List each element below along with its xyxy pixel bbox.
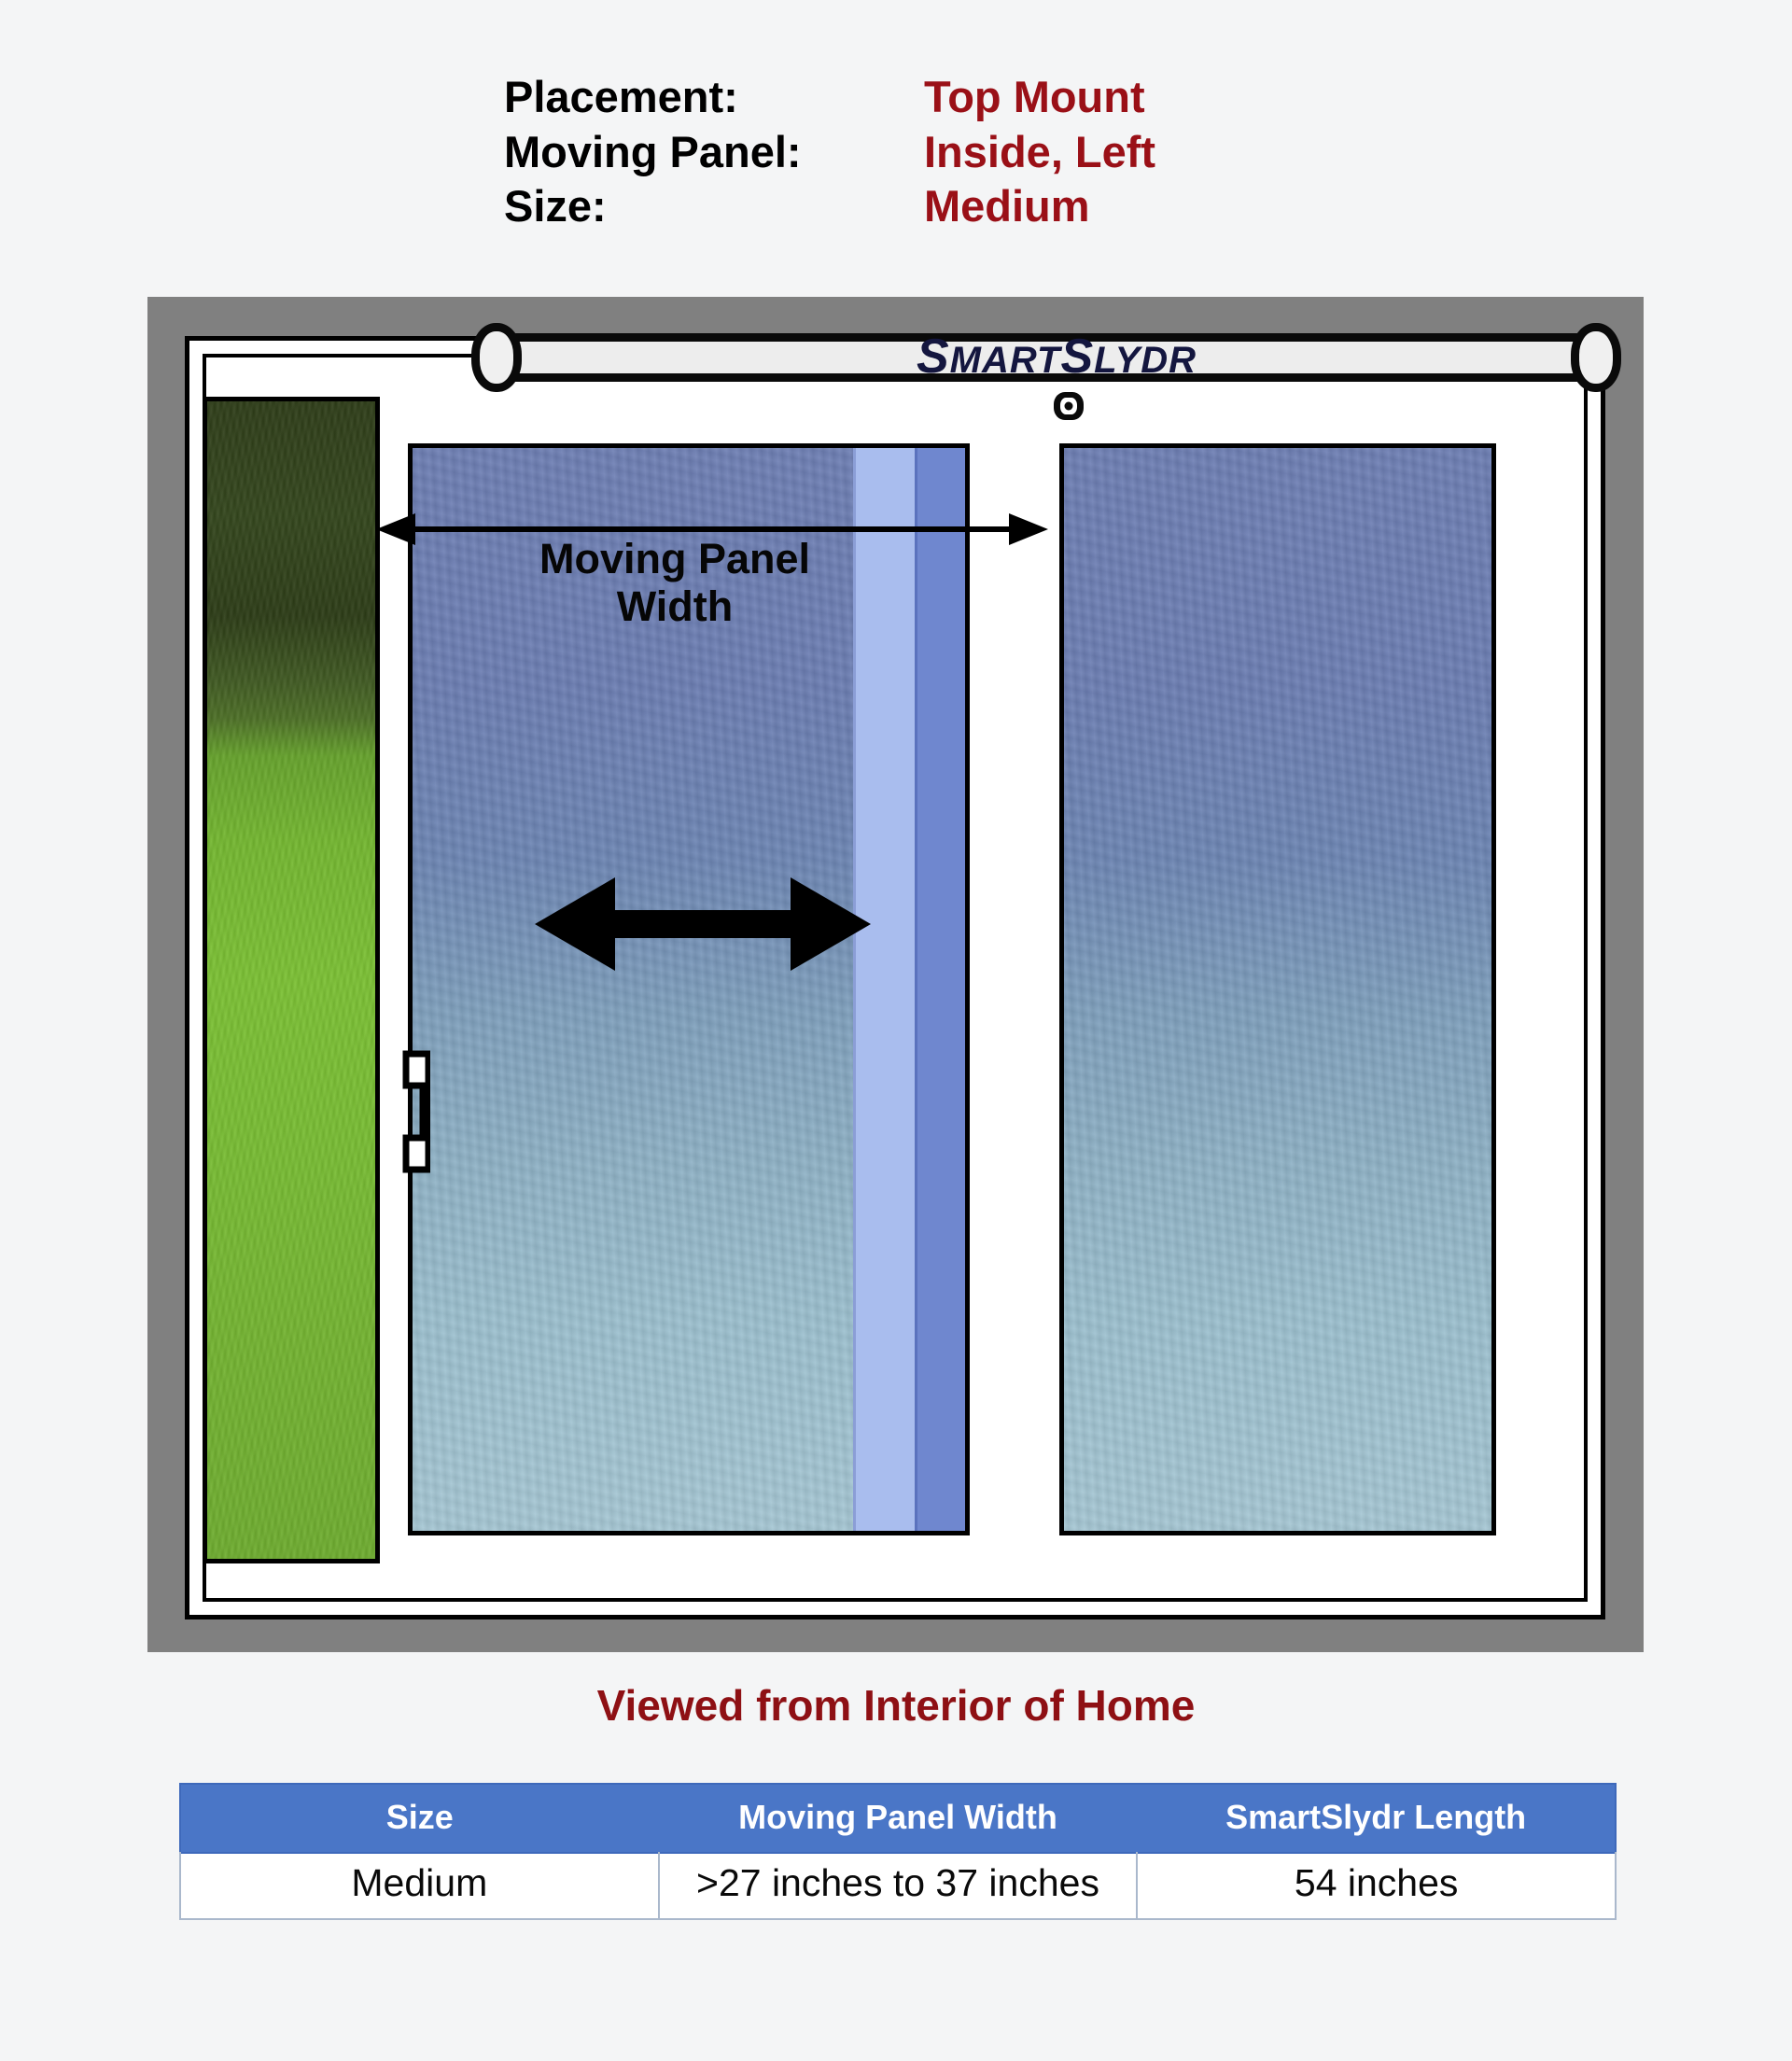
door-diagram-wall: Moving Panel Width SMARTSLYDR <box>147 297 1644 1652</box>
track-end-cap-right <box>1571 323 1621 392</box>
spec-value-placement: Top Mount <box>924 73 1155 122</box>
table-header-width: Moving Panel Width <box>659 1784 1138 1853</box>
smartslydr-logo: SMARTSLYDR <box>917 329 1197 385</box>
spec-label-size: Size: <box>504 182 924 231</box>
track-end-cap-left <box>471 323 522 392</box>
table-header-size: Size <box>180 1784 659 1853</box>
table-cell-size: Medium <box>180 1853 659 1919</box>
dim-label-line-1: Moving Panel <box>413 535 936 582</box>
size-reference-table: Size Moving Panel Width SmartSlydr Lengt… <box>179 1783 1617 1920</box>
table-header-length: SmartSlydr Length <box>1137 1784 1616 1853</box>
spec-label-placement: Placement: <box>504 73 924 122</box>
table-cell-length: 54 inches <box>1137 1853 1616 1919</box>
spec-label-moving-panel: Moving Panel: <box>504 128 924 177</box>
dim-label-line-2: Width <box>413 582 936 630</box>
door-handle[interactable] <box>399 1050 430 1173</box>
table-row: Medium >27 inches to 37 inches 54 inches <box>180 1853 1616 1919</box>
fixed-glass-panel <box>1059 443 1496 1535</box>
moving-panel-width-label: Moving Panel Width <box>413 535 936 631</box>
roller-bracket-icon <box>1052 389 1085 428</box>
table-cell-width: >27 inches to 37 inches <box>659 1853 1138 1919</box>
diagram-caption: Viewed from Interior of Home <box>0 1680 1792 1731</box>
table-header-row: Size Moving Panel Width SmartSlydr Lengt… <box>180 1784 1616 1853</box>
spec-value-size: Medium <box>924 182 1155 231</box>
spec-summary-block: Placement: Top Mount Moving Panel: Insid… <box>504 73 1155 231</box>
outdoor-view-grass <box>203 397 380 1563</box>
smartslydr-track-bar: SMARTSLYDR <box>490 333 1601 382</box>
sliding-door-frame: Moving Panel Width SMARTSLYDR <box>185 336 1605 1619</box>
panel-slide-direction-arrow <box>535 873 871 975</box>
spec-value-moving-panel: Inside, Left <box>924 128 1155 177</box>
